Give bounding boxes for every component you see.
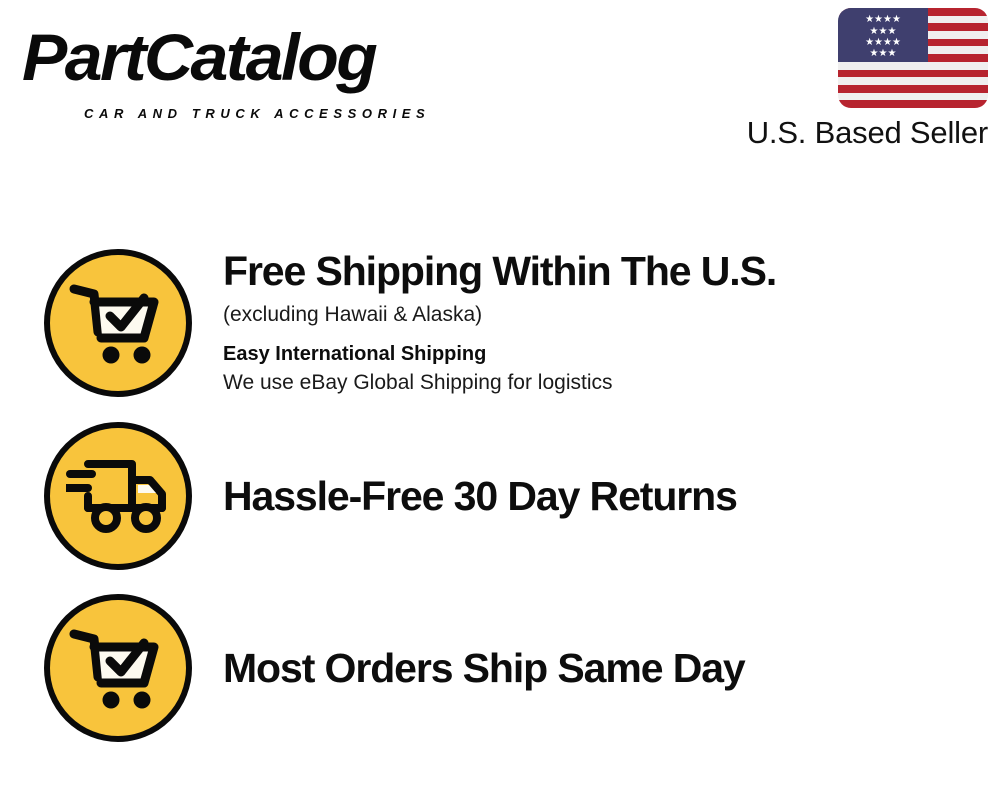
feature-text-block: Most Orders Ship Same Day [223,645,1000,691]
flag-star-row: ★★★★ [838,15,928,25]
brand-tagline: CAR AND TRUCK ACCESSORIES [84,106,430,121]
flag-stripe [838,93,988,101]
delivery-truck-icon [44,422,192,570]
feature-subtitle-strong: Easy International Shipping [223,341,1000,368]
shopping-cart-check-icon [44,249,192,397]
cart-glyph [68,276,168,370]
flag-stripe [838,77,988,85]
brand-wordmark: PartCatalog [22,18,375,96]
feature-text-block: Free Shipping Within The U.S. (excluding… [223,248,1000,397]
flag-stripe [838,70,988,78]
page-header: PartCatalog CAR AND TRUCK ACCESSORIES [0,0,1000,175]
feature-subtitle: (excluding Hawaii & Alaska) [223,300,1000,330]
feature-row: Hassle-Free 30 Day Returns [0,418,1000,573]
cart-glyph [68,621,168,715]
shopping-cart-check-icon [44,594,192,742]
feature-title: Most Orders Ship Same Day [223,645,1000,691]
feature-title: Free Shipping Within The U.S. [223,248,1000,294]
feature-subtitle-secondary: We use eBay Global Shipping for logistic… [223,368,1000,397]
seller-label: U.S. Based Seller [718,115,988,151]
flag-stripe [838,62,988,70]
feature-title: Hassle-Free 30 Day Returns [223,473,1000,519]
feature-text-block: Hassle-Free 30 Day Returns [223,473,1000,519]
flag-canton: ★★★★ ★★★ ★★★★ ★★★ ★★★★ [838,8,928,62]
truck-glyph [66,456,170,536]
flag-star-row: ★★★★ [838,38,928,48]
feature-row: Most Orders Ship Same Day [0,590,1000,745]
us-flag-icon: ★★★★ ★★★ ★★★★ ★★★ ★★★★ [838,8,988,108]
brand-logo[interactable]: PartCatalog CAR AND TRUCK ACCESSORIES [22,18,492,118]
us-based-seller-badge: ★★★★ ★★★ ★★★★ ★★★ ★★★★ U.S. Based Seller [718,8,988,151]
flag-stripe [838,100,988,108]
flag-stripe [838,85,988,93]
flag-star-row: ★★★ [838,27,928,37]
feature-row: Free Shipping Within The U.S. (excluding… [0,245,1000,400]
